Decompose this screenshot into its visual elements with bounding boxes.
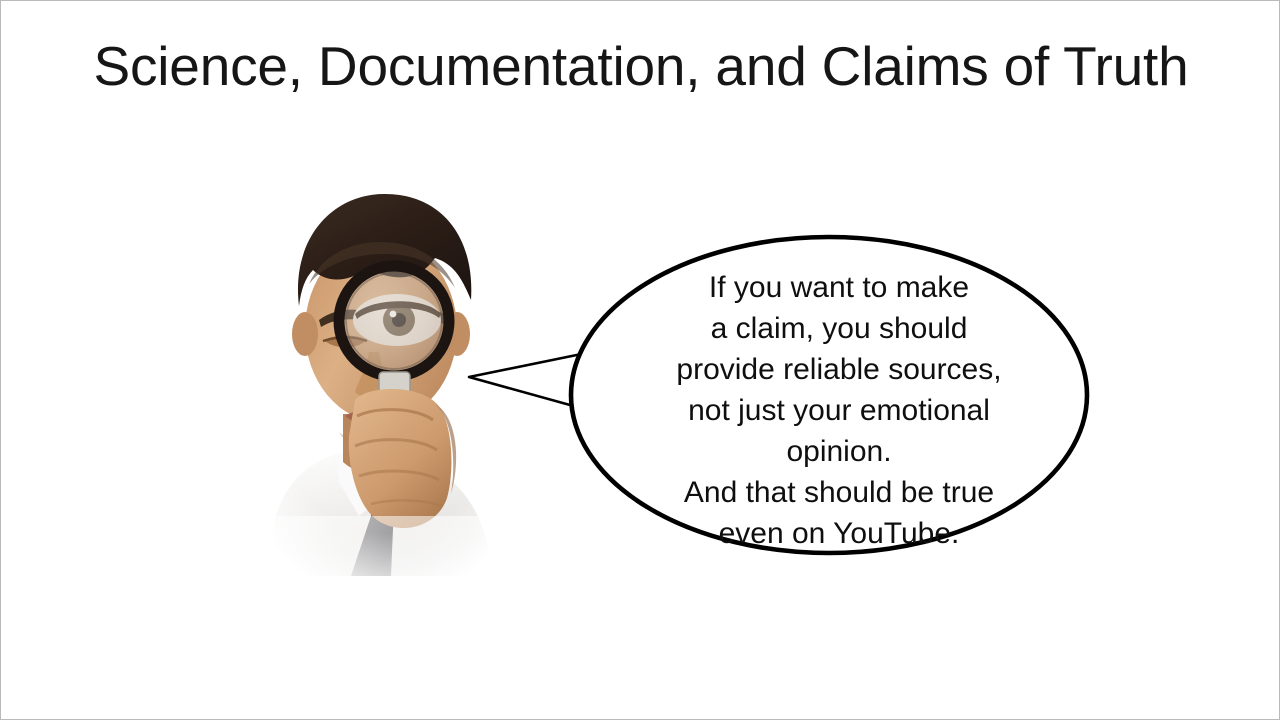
bubble-line-7: even on YouTube.	[719, 513, 960, 554]
bubble-line-2: a claim, you should	[711, 308, 968, 349]
speech-bubble: If you want to make a claim, you should …	[456, 223, 1106, 568]
page-title: Science, Documentation, and Claims of Tr…	[1, 37, 1280, 95]
speech-bubble-text: If you want to make a claim, you should …	[574, 254, 1104, 584]
slide-canvas: Science, Documentation, and Claims of Tr…	[0, 0, 1280, 720]
bubble-line-1: If you want to make	[709, 267, 969, 308]
bubble-line-6: And that should be true	[684, 472, 994, 513]
bubble-line-5: opinion.	[786, 431, 891, 472]
bubble-line-3: provide reliable sources,	[676, 349, 1001, 390]
bubble-line-4: not just your emotional	[688, 390, 990, 431]
